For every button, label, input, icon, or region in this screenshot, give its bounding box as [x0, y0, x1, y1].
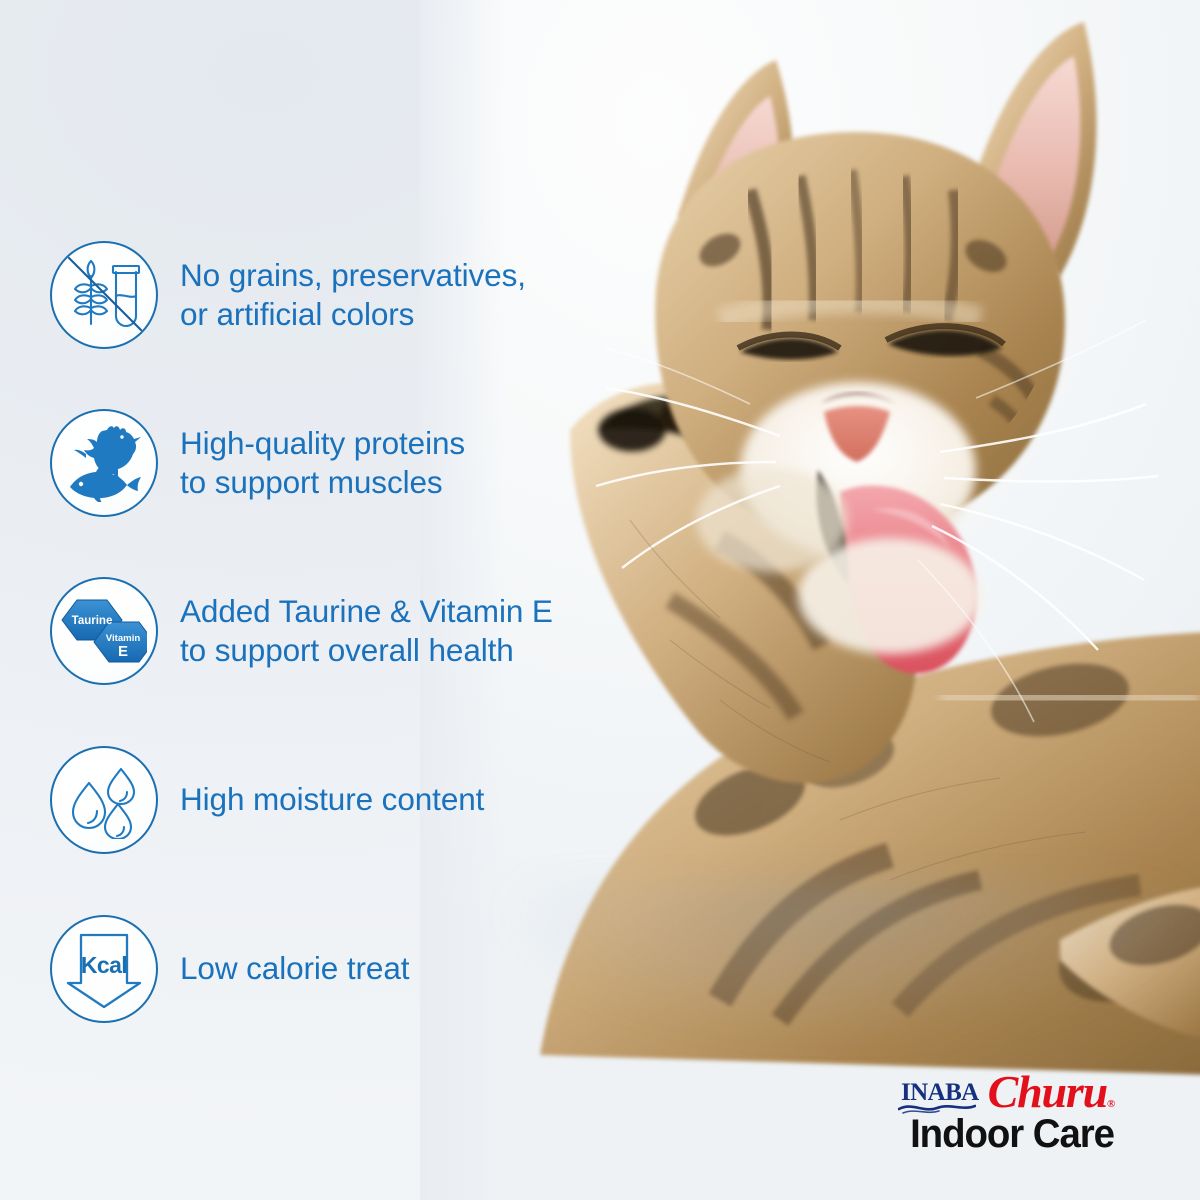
brand-top-row: INABA Churu®	[901, 1072, 1114, 1112]
feature-item-taurine: Taurine Vitamin E Added Taurine & Vitami…	[50, 577, 553, 685]
feature-text: Added Taurine & Vitamin E to support ove…	[180, 592, 553, 670]
hex-label-taurine: Taurine	[72, 615, 113, 627]
feature-text: No grains, preservatives, or artificial …	[180, 256, 526, 334]
water-droplets-icon	[50, 746, 158, 854]
no-grains-icon	[50, 241, 158, 349]
churu-wordmark: Churu®	[988, 1072, 1114, 1112]
brand-lockup: INABA Churu® Indoor Care	[901, 1072, 1114, 1154]
hex-label-e: E	[118, 643, 128, 660]
infographic-canvas: No grains, preservatives, or artificial …	[0, 0, 1200, 1200]
feature-list: No grains, preservatives, or artificial …	[0, 0, 620, 1200]
taurine-vitamin-e-glyph: Taurine Vitamin E	[61, 592, 147, 670]
feature-text: Low calorie treat	[180, 949, 409, 988]
feature-item-moisture: High moisture content	[50, 746, 484, 854]
feature-text: High moisture content	[180, 780, 484, 819]
feature-text: High-quality proteins to support muscles	[180, 424, 465, 502]
kcal-arrow-icon: Kcal	[50, 915, 158, 1023]
feature-item-no-grains: No grains, preservatives, or artificial …	[50, 241, 526, 349]
water-droplets-glyph	[65, 761, 143, 839]
kcal-label: Kcal	[81, 952, 127, 978]
feature-item-proteins: High-quality proteins to support muscles	[50, 409, 465, 517]
inaba-logo: INABA	[901, 1080, 979, 1112]
product-line-name: Indoor Care	[910, 1114, 1114, 1154]
feature-item-low-calorie: Kcal Low calorie treat	[50, 915, 409, 1023]
no-grains-glyph	[65, 256, 143, 334]
taurine-vitamin-e-icon: Taurine Vitamin E	[50, 577, 158, 685]
chicken-fish-icon	[50, 409, 158, 517]
chicken-fish-glyph	[64, 424, 144, 502]
registered-trademark-icon: ®	[1107, 1098, 1114, 1110]
kcal-arrow-glyph: Kcal	[64, 929, 144, 1009]
